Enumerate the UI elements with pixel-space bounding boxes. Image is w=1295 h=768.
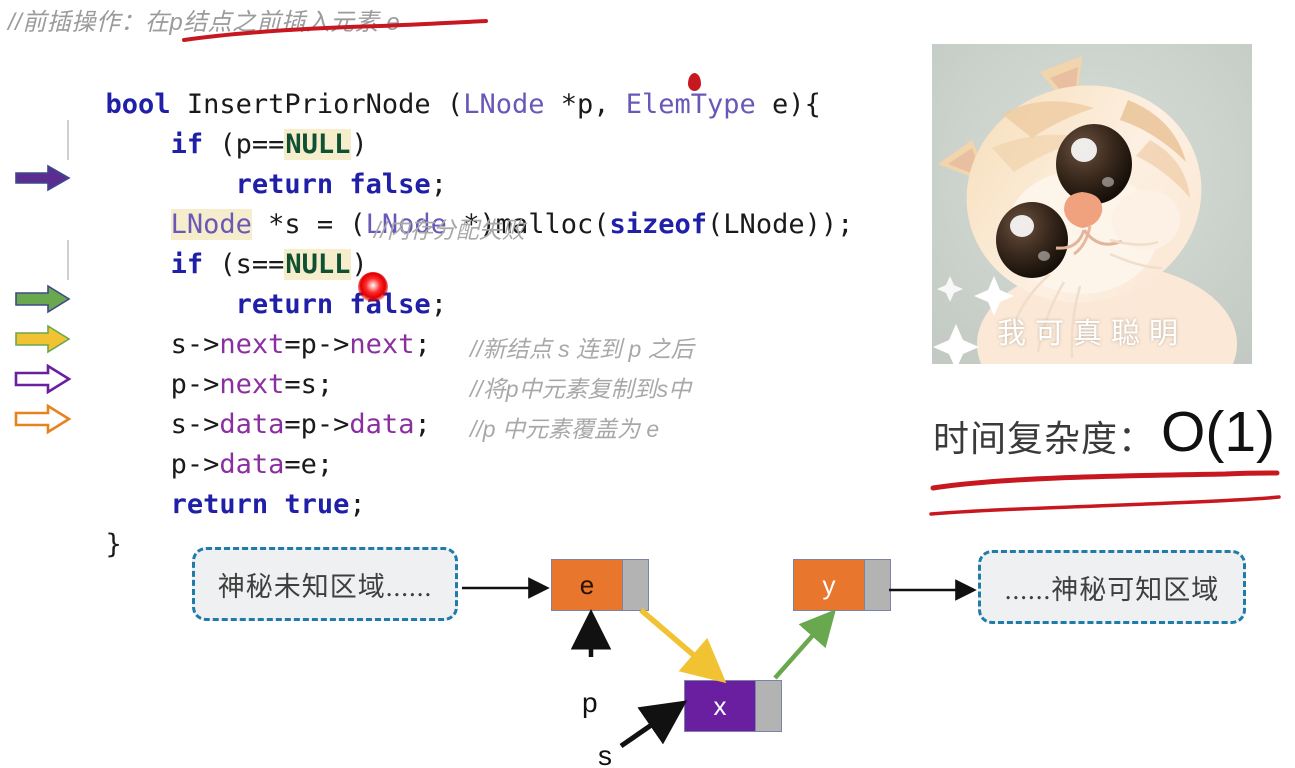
code-comment-copy-p-to-s: //将p中元素复制到s中 — [470, 370, 691, 404]
cat-meme-caption: 我可真聪明 — [932, 310, 1252, 352]
code-type-lnode: LNode — [463, 89, 544, 120]
arrow-marker-malloc — [14, 163, 72, 193]
arrow-marker-s-next — [14, 284, 72, 314]
code-semicolon: ; — [349, 489, 365, 520]
code-kw-return: return — [171, 489, 269, 520]
link-e-next-to-x — [641, 610, 718, 676]
arrow-marker-s-data — [14, 364, 72, 394]
red-underline-header — [180, 18, 490, 44]
arrow-marker-p-next — [14, 324, 72, 354]
red-underline-complexity — [925, 466, 1285, 522]
code-member-data-2: data — [349, 409, 414, 440]
code-comment-overwrite-p: //p 中元素覆盖为 e — [470, 410, 659, 444]
code-comment-link-after-p: //新结点 s 连到 p 之后 — [470, 330, 694, 364]
link-x-next-to-y — [775, 616, 830, 678]
indent-guide-2 — [67, 240, 69, 280]
code-sizeof-arg: (LNode)); — [707, 209, 853, 240]
slide-canvas: //前插操作：在p结点之前插入元素 e bool InsertPriorNode… — [0, 0, 1295, 768]
code-type-elemtype: ElemType — [626, 89, 756, 120]
code-semicolon: ; — [414, 409, 430, 440]
code-semicolon: ; — [414, 329, 430, 360]
laser-pointer-dot — [358, 272, 388, 302]
linked-list-diagram: 神秘未知区域...... ......神秘可知区域 e y x — [0, 528, 1295, 768]
code-semicolon: ; — [431, 289, 447, 320]
code-paren-open: ( — [447, 89, 463, 120]
code-comment-alloc-fail: //内存分配失败 — [374, 211, 525, 245]
code-panel: //前插操作：在p结点之前插入元素 e bool InsertPriorNode… — [0, 0, 930, 530]
time-complexity-label: 时间复杂度： — [933, 410, 1155, 462]
time-complexity-value: O(1) — [1161, 404, 1275, 461]
diagram-connectors — [0, 528, 1295, 768]
cat-meme-image: 我可真聪明 — [932, 44, 1252, 364]
code-param-p: *p, — [544, 89, 625, 120]
arrow-marker-p-data — [14, 404, 72, 434]
label-s: s — [598, 740, 612, 768]
code-kw-true: true — [268, 489, 349, 520]
code-member-next-2: next — [349, 329, 414, 360]
time-complexity: 时间复杂度： O(1) — [933, 404, 1293, 474]
label-p: p — [582, 687, 598, 719]
code-param-e: e){ — [756, 89, 821, 120]
indent-guide-1 — [67, 120, 69, 160]
code-kw-sizeof: sizeof — [610, 209, 708, 240]
pointer-arrow-s — [621, 706, 679, 746]
